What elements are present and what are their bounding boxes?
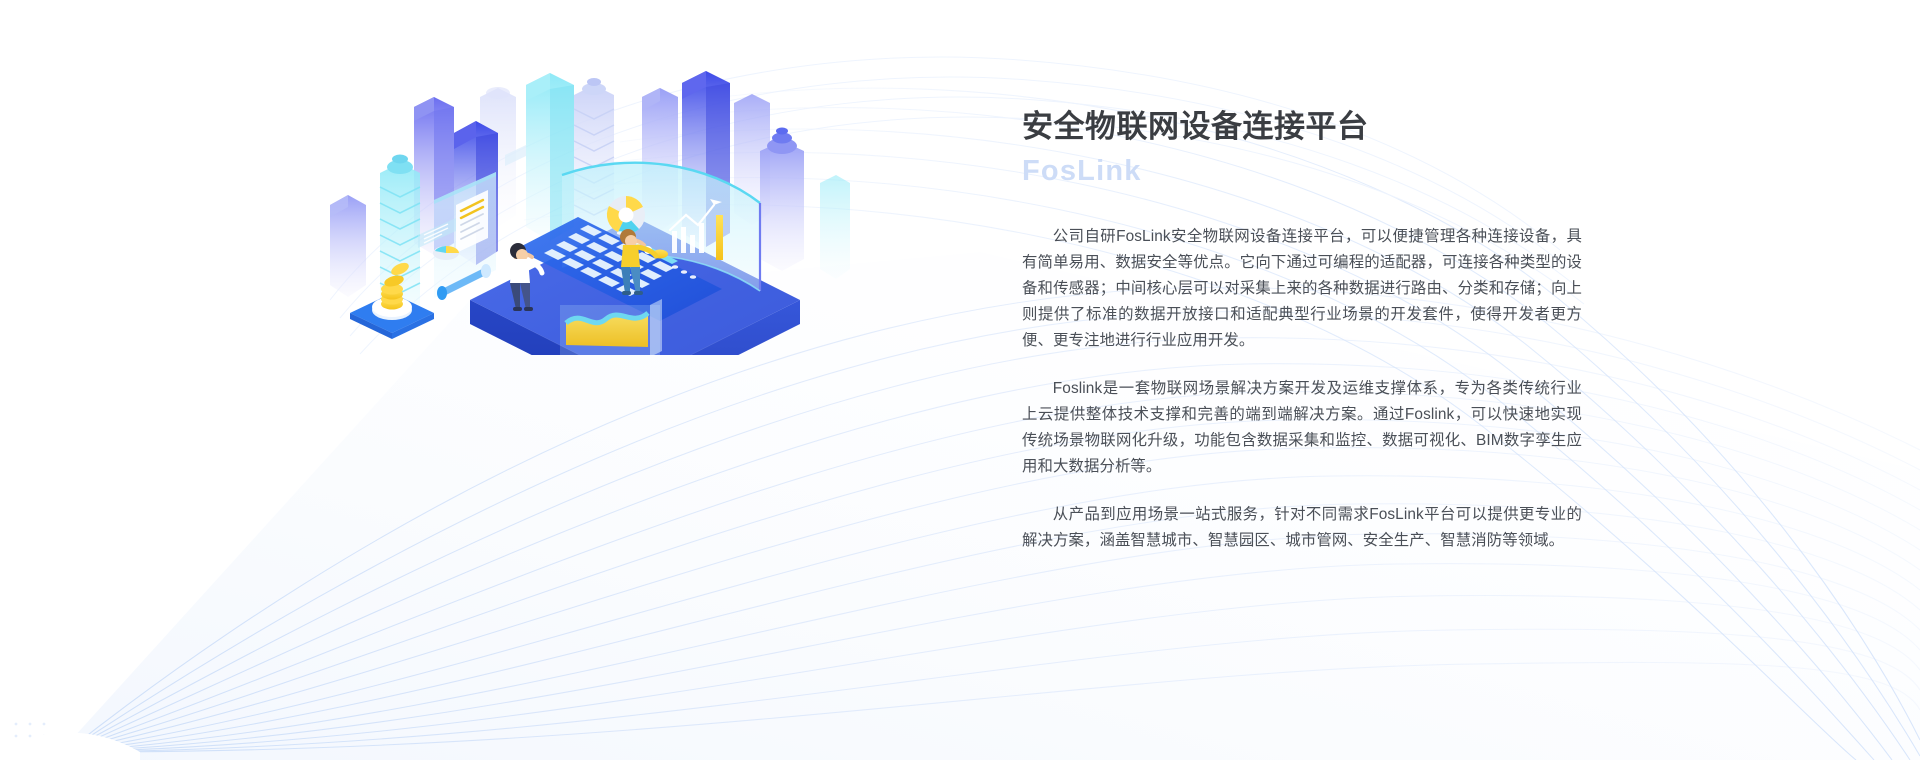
building-farright-pale (820, 175, 850, 279)
hero-banner-page: 安全物联网设备连接平台 FosLink 公司自研FosLink安全物联网设备连接… (0, 0, 1920, 760)
hero-description: 公司自研FosLink安全物联网设备连接平台，可以便捷管理各种连接设备，具有简单… (1022, 224, 1582, 554)
description-paragraph-1: 公司自研FosLink安全物联网设备连接平台，可以便捷管理各种连接设备，具有简单… (1022, 224, 1582, 354)
area-chart-widget (560, 299, 662, 355)
pie-chart-widget-small (433, 246, 459, 260)
background-wave-decoration (0, 0, 1920, 760)
building-farleft (330, 195, 366, 297)
description-paragraph-2: Foslink是一套物联网场景解决方案开发及运维支撑体系，专为各类传统行业上云提… (1022, 376, 1582, 480)
description-paragraph-3: 从产品到应用场景一站式服务，针对不同需求FosLink平台可以提供更专业的解决方… (1022, 502, 1582, 554)
page-title: 安全物联网设备连接平台 (1022, 108, 1582, 147)
page-subtitle: FosLink (1022, 153, 1582, 191)
isometric-smart-city-iot-illustration (330, 55, 850, 355)
building-right-round (760, 128, 804, 272)
dot-texture (15, 723, 116, 750)
pie-chart-widget (607, 196, 645, 234)
hero-text-column: 安全物联网设备连接平台 FosLink 公司自研FosLink安全物联网设备连接… (1022, 108, 1582, 554)
